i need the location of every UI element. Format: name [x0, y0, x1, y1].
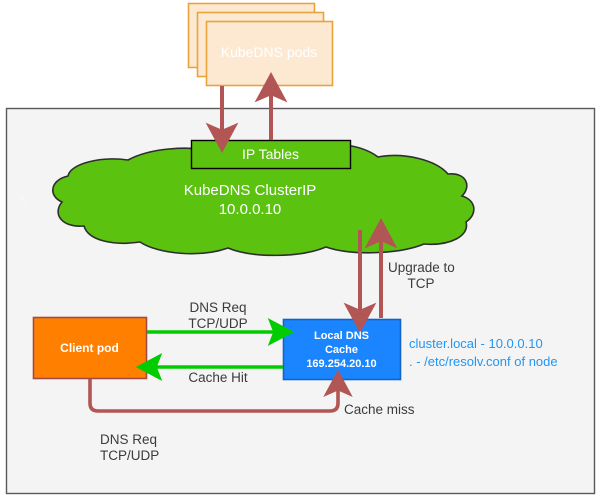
- cache-miss-label: Cache miss: [344, 402, 444, 418]
- dns-request-bottom-label-line2: TCP/UDP: [100, 448, 220, 464]
- dns-request-label-line2: TCP/UDP: [158, 316, 278, 332]
- ip-tables-label: IP Tables: [191, 146, 350, 162]
- upgrade-tcp-label-line2: TCP: [388, 276, 454, 292]
- local-dns-cache-label-line2: Cache: [283, 344, 400, 357]
- dns-request-bottom-label-line1: DNS Req: [100, 432, 220, 448]
- local-dns-cache-label-line1: Local DNS: [283, 330, 400, 343]
- diagram-canvas: KubeDNS pods IP Tables KubeDNS ClusterIP…: [0, 0, 601, 501]
- client-pod-label: Client pod: [33, 342, 146, 356]
- cache-hit-label: Cache Hit: [158, 370, 278, 386]
- cluster-ip-label-line2: 10.0.0.10: [130, 201, 370, 218]
- resolv-conf-note-line1: cluster.local - 10.0.0.10: [409, 335, 599, 353]
- resolv-conf-note-line2: . - /etc/resolv.conf of node: [409, 353, 599, 371]
- upgrade-tcp-label-line1: Upgrade to: [388, 260, 483, 276]
- kubedns-pods-label: KubeDNS pods: [206, 44, 332, 60]
- local-dns-cache-label-line3: 169.254.20.10: [283, 358, 400, 371]
- cluster-ip-label-line1: KubeDNS ClusterIP: [130, 182, 370, 199]
- diagram-svg: [0, 0, 601, 501]
- dns-request-label-line1: DNS Req: [158, 300, 278, 316]
- stray-s-glyph: s: [19, 192, 26, 207]
